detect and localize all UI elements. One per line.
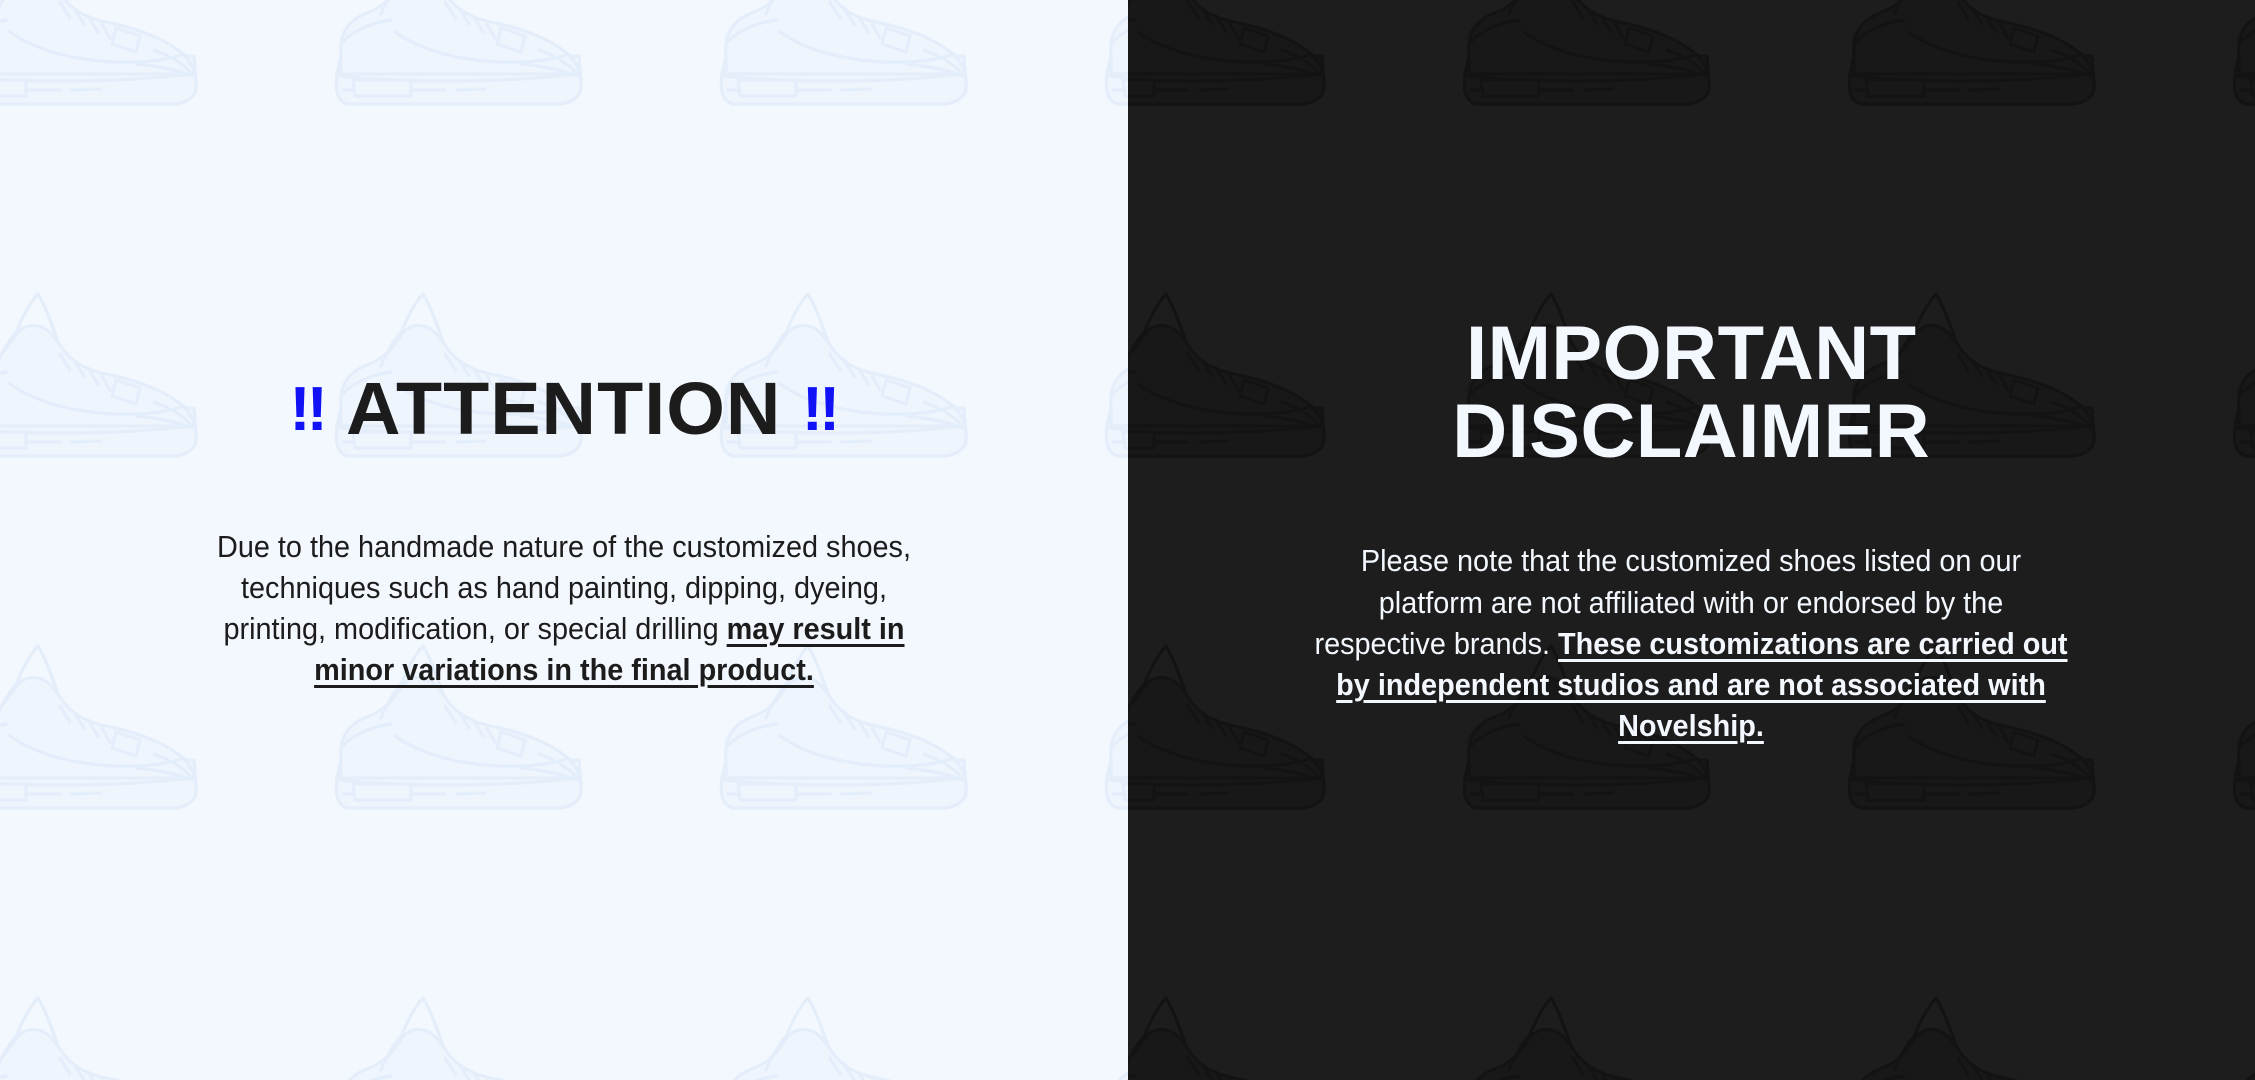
attention-body: Due to the handmade nature of the custom…: [192, 526, 936, 691]
disclaimer-body: Please note that the customized shoes li…: [1310, 540, 2073, 746]
disclaimer-heading-line-1: IMPORTANT: [1341, 315, 2041, 393]
disclaimer-heading-line-2: DISCLAIMER: [1341, 393, 2041, 471]
attention-heading-text: ATTENTION: [346, 367, 781, 450]
attention-disclaimer-banner: ‼ATTENTION‼ Due to the handmade nature o…: [0, 0, 2255, 1080]
attention-heading: ‼ATTENTION‼: [30, 372, 1098, 446]
attention-panel: ‼ATTENTION‼ Due to the handmade nature o…: [0, 0, 1128, 1080]
double-exclamation-icon-right: ‼: [802, 375, 838, 444]
attention-content: ‼ATTENTION‼ Due to the handmade nature o…: [0, 372, 1128, 691]
attention-spacer: [40, 446, 1088, 490]
double-exclamation-icon-left: ‼: [289, 375, 325, 444]
disclaimer-panel: IMPORTANT DISCLAIMER Please note that th…: [1128, 0, 2255, 1080]
disclaimer-heading: IMPORTANT DISCLAIMER: [1341, 315, 2041, 470]
disclaimer-spacer: [1168, 470, 2216, 506]
disclaimer-content: IMPORTANT DISCLAIMER Please note that th…: [1128, 315, 2255, 746]
